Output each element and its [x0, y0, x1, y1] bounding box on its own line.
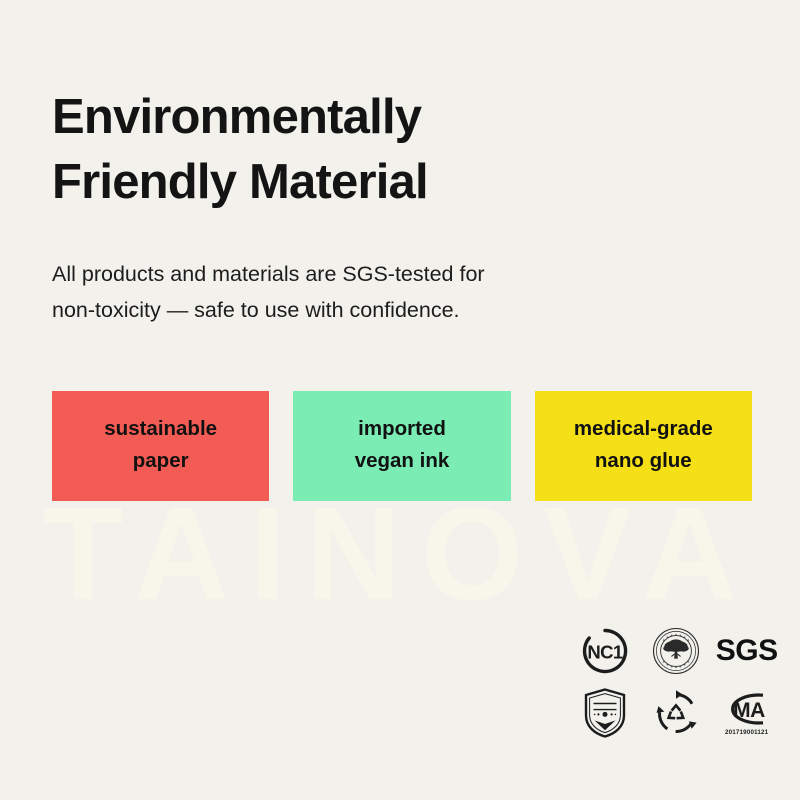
material-badge-sustainable-paper: sustainable paper: [52, 391, 269, 501]
shield-badge-icon: [582, 687, 628, 739]
svg-text:MA: MA: [733, 699, 765, 722]
badge-label-line-2: vegan ink: [303, 445, 500, 477]
material-badge-imported-vegan-ink: imported vegan ink: [293, 391, 510, 501]
page-description-line-1: All products and materials are SGS-teste…: [52, 256, 652, 293]
badge-label-line-1: sustainable: [62, 413, 259, 445]
page-description-line-2: non-toxicity — safe to use with confiden…: [52, 292, 652, 329]
badge-label-line-1: medical-grade: [545, 413, 742, 445]
certification-logo-grid: NC1: [572, 620, 780, 744]
page-title-line-1: Environmentally: [52, 85, 692, 150]
material-badge-row: sustainable paper imported vegan ink med…: [52, 391, 752, 501]
badge-label-line-2: nano glue: [545, 445, 742, 477]
recycling-symbol-icon: [651, 688, 701, 738]
cma-mark-icon: MA 201719001121: [716, 690, 778, 736]
material-badge-medical-grade-nano-glue: medical-grade nano glue: [535, 391, 752, 501]
cma-certificate-number: 201719001121: [725, 729, 768, 736]
page-title-line-2: Friendly Material: [52, 150, 692, 215]
brand-watermark: TAINOVA: [0, 488, 800, 620]
nc1-badge-icon: NC1: [580, 626, 630, 676]
badge-label-line-2: paper: [62, 445, 259, 477]
page-description: All products and materials are SGS-teste…: [52, 256, 652, 330]
page-title: Environmentally Friendly Material: [52, 85, 692, 214]
svg-text:NC1: NC1: [588, 642, 624, 663]
badge-label-line-1: imported: [303, 413, 500, 445]
sgs-logo: SGS: [716, 636, 778, 666]
sgs-logo-text: SGS: [716, 636, 778, 666]
tree-seal-icon: [651, 626, 701, 676]
